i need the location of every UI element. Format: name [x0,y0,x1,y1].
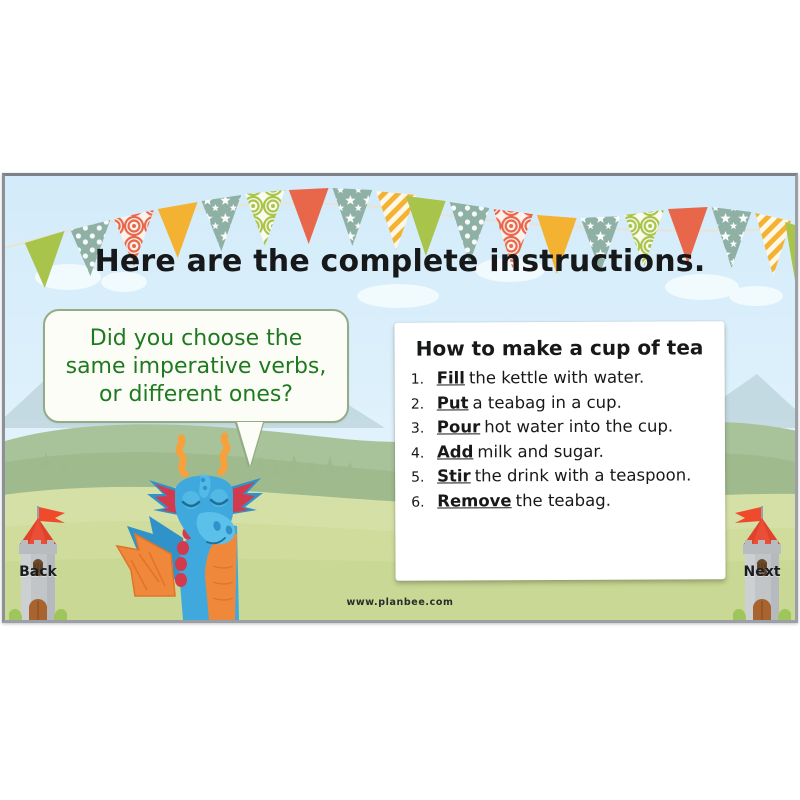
instruction-step: 4. Add milk and sugar. [395,441,719,462]
dragon-horn-right [221,436,227,472]
speech-bubble: Did you choose the same imperative verbs… [43,309,349,423]
step-text: the kettle with water. [469,368,644,388]
pennant-flag-icon [735,507,761,523]
slide-canvas: Here are the complete instructions. Did … [5,176,795,620]
step-text: milk and sugar. [477,441,604,461]
watermark: www.planbee.com [5,597,795,608]
dragon-spine-scale [177,541,189,555]
step-verb: Add [437,442,473,462]
instruction-step: 5. Stir the drink with a teaspoon. [395,465,719,486]
tower-merlon [34,540,41,546]
step-number: 3. [411,421,437,438]
back-button-label: Back [9,564,67,580]
dragon-horn-left [179,438,185,474]
step-text: the drink with a teaspoon. [475,465,692,485]
step-number: 6. [411,494,437,511]
pine-tree-icon [345,462,355,474]
bunting-flag [245,190,285,246]
next-button-label: Next [733,564,791,580]
slide-frame: Here are the complete instructions. Did … [2,173,798,623]
tower-merlon [21,540,28,546]
dragon-spine-scale [175,573,187,587]
page-root: { "slide": { "title": "Here are the comp… [0,0,800,800]
step-text: the teabag. [516,490,611,510]
instruction-panel-heading: How to make a cup of tea [400,335,718,360]
step-text: a teabag in a cup. [472,392,621,412]
dragon-crest-dot [203,486,207,490]
instruction-step: 6. Remove the teabag. [395,490,719,511]
step-number: 5. [411,470,437,487]
instruction-step: 2. Put a teabag in a cup. [395,392,719,413]
step-number: 2. [411,396,437,413]
tower-merlon [47,540,54,546]
instruction-step: 3. Pour hot water into the cup. [395,416,719,437]
bunting-flag [333,188,373,246]
pine-tree-icon [41,452,51,468]
pennant-flag-icon [39,507,65,523]
pine-tree-icon [307,462,317,475]
bunting-flag [289,188,329,244]
step-verb: Pour [437,417,480,437]
speech-line-3: or different ones? [59,381,333,409]
step-text: hot water into the cup. [484,417,673,437]
pine-tree-icon [59,458,69,470]
bush-icon [54,609,67,620]
step-number: 1. [411,372,437,389]
bush-icon [778,609,791,620]
dragon-character-icon [109,430,299,620]
dragon-crest-dot [201,478,205,482]
step-verb: Stir [437,466,471,486]
tower-merlon [758,540,765,546]
speech-line-1: Did you choose the [59,325,333,353]
step-verb: Put [437,393,469,413]
pine-tree-icon [325,456,335,472]
tower-merlon [771,540,778,546]
page-title: Here are the complete instructions. [5,244,795,279]
bush-icon [733,609,746,620]
step-verb: Fill [437,368,465,388]
dragon-spine-scale [175,557,187,571]
tower-merlon [745,540,752,546]
speech-line-2: same imperative verbs, [59,353,333,381]
bunting-flag [202,195,242,251]
instruction-panel: How to make a cup of tea 1. Fill the ket… [394,321,725,580]
step-verb: Remove [437,491,511,511]
speech-bubble-text: Did you choose the same imperative verbs… [59,325,333,409]
step-number: 4. [411,445,437,462]
instruction-step: 1. Fill the kettle with water. [395,367,719,388]
bush-icon [9,609,22,620]
